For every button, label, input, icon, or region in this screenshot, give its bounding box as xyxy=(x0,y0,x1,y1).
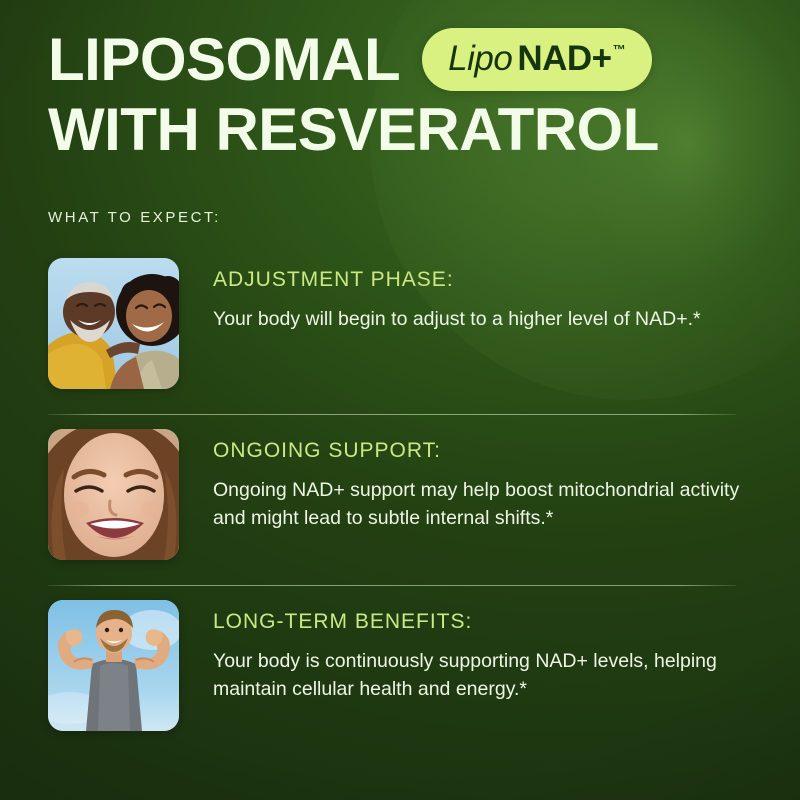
benefit-body: Your body is continuously supporting NAD… xyxy=(213,648,752,703)
benefit-row: ONGOING SUPPORT: Ongoing NAD+ support ma… xyxy=(48,415,752,585)
benefit-thumbnail-man-flexing xyxy=(48,600,179,731)
benefit-text-block: ONGOING SUPPORT: Ongoing NAD+ support ma… xyxy=(213,429,752,532)
benefit-heading: ADJUSTMENT PHASE: xyxy=(213,268,701,292)
benefit-rows: ADJUSTMENT PHASE: Your body will begin t… xyxy=(48,244,752,756)
benefit-text-block: LONG-TERM BENEFITS: Your body is continu… xyxy=(213,600,752,703)
title-row-1: LIPOSOMAL Lipo NAD+ ™ xyxy=(48,28,752,92)
trademark-icon: ™ xyxy=(613,43,626,56)
benefit-heading: LONG-TERM BENEFITS: xyxy=(213,610,752,634)
brand-badge-liponad: Lipo NAD+ ™ xyxy=(422,28,651,91)
promo-poster: LIPOSOMAL Lipo NAD+ ™ WITH RESVERATROL W… xyxy=(0,0,800,800)
benefit-row: LONG-TERM BENEFITS: Your body is continu… xyxy=(48,586,752,756)
benefit-thumbnail-woman xyxy=(48,429,179,560)
brand-word-lipo: Lipo xyxy=(448,41,512,76)
poster-header: LIPOSOMAL Lipo NAD+ ™ WITH RESVERATROL xyxy=(48,0,752,161)
brand-word-nad: NAD+ xyxy=(517,41,611,76)
page-title-line-2: WITH RESVERATROL xyxy=(48,98,752,162)
benefit-body: Your body will begin to adjust to a high… xyxy=(213,306,701,334)
section-eyebrow-label: WHAT TO EXPECT: xyxy=(48,209,752,226)
poster-content: LIPOSOMAL Lipo NAD+ ™ WITH RESVERATROL W… xyxy=(0,0,800,800)
benefit-text-block: ADJUSTMENT PHASE: Your body will begin t… xyxy=(213,258,701,334)
benefit-thumbnail-couple xyxy=(48,258,179,389)
benefit-body: Ongoing NAD+ support may help boost mito… xyxy=(213,477,752,532)
benefit-heading: ONGOING SUPPORT: xyxy=(213,439,752,463)
brand-badge-inner: Lipo NAD+ ™ xyxy=(448,41,625,76)
page-title-line-1: LIPOSOMAL xyxy=(48,28,400,92)
benefit-row: ADJUSTMENT PHASE: Your body will begin t… xyxy=(48,244,752,414)
